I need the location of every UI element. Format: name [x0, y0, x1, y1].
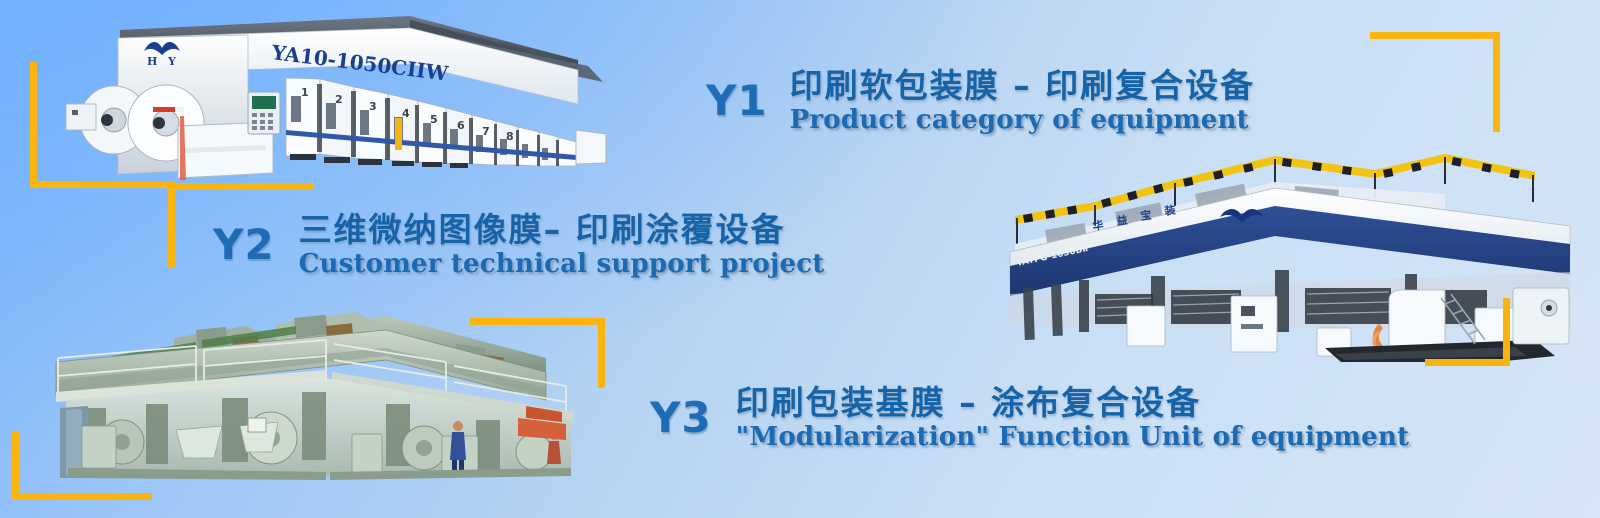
bracket-bottom-left-horizontal	[12, 493, 152, 500]
entry-y2-title-en: Customer technical support project	[299, 250, 825, 279]
svg-text:5: 5	[430, 113, 438, 126]
promo-banner: H Y YA10-1050CIIW	[0, 0, 1600, 518]
bracket-bottom-left	[12, 432, 152, 500]
bracket-bottom-left-vertical	[12, 432, 19, 500]
entry-y1-title-en: Product category of equipment	[790, 106, 1255, 135]
svg-text:华: 华	[1091, 218, 1104, 233]
svg-text:8: 8	[506, 130, 514, 143]
bracket-right-lower-horizontal	[1425, 359, 1510, 366]
bracket-left-upper-horizontal	[30, 181, 175, 188]
bracket-y2-horizontal	[168, 183, 313, 190]
bracket-right-lower	[1425, 298, 1510, 366]
entry-y3: Y3 印刷包装基膜 – 涂布复合设备 "Modularization" Func…	[650, 385, 1409, 451]
bracket-y3-vertical	[598, 318, 605, 388]
entry-y3-title-cn: 印刷包装基膜 – 涂布复合设备	[736, 385, 1410, 421]
entry-y2-title-cn: 三维微纳图像膜– 印刷涂覆设备	[299, 212, 825, 248]
bracket-right-lower-vertical	[1503, 298, 1510, 366]
svg-text:1: 1	[301, 86, 309, 99]
bracket-top-right-vertical	[1493, 32, 1500, 132]
bracket-y3-horizontal	[470, 318, 605, 325]
entry-y1-code: Y1	[706, 80, 768, 122]
bracket-left-upper-vertical	[30, 62, 37, 188]
svg-text:4: 4	[402, 107, 410, 120]
entry-y1-title-cn: 印刷软包装膜 – 印刷复合设备	[790, 68, 1255, 104]
svg-text:7: 7	[482, 125, 490, 138]
entry-y3-title-en: "Modularization" Function Unit of equipm…	[736, 423, 1410, 452]
bracket-y2-vertical	[168, 183, 175, 268]
entry-y2-code: Y2	[213, 224, 275, 266]
svg-text:2: 2	[335, 93, 343, 106]
bracket-top-right	[1370, 32, 1500, 132]
bracket-top-right-horizontal	[1370, 32, 1500, 39]
entry-y1: Y1 印刷软包装膜 – 印刷复合设备 Product category of e…	[706, 68, 1255, 134]
svg-text:装: 装	[1162, 203, 1176, 219]
svg-text:宝: 宝	[1139, 208, 1152, 223]
bracket-left-upper	[30, 62, 175, 188]
entry-y3-code: Y3	[650, 397, 712, 439]
svg-text:益: 益	[1115, 213, 1128, 228]
svg-text:6: 6	[457, 119, 465, 132]
bracket-y3-connector	[470, 318, 605, 388]
svg-text:3: 3	[369, 100, 377, 113]
entry-y2: Y2 三维微纳图像膜– 印刷涂覆设备 Customer technical su…	[213, 212, 825, 278]
